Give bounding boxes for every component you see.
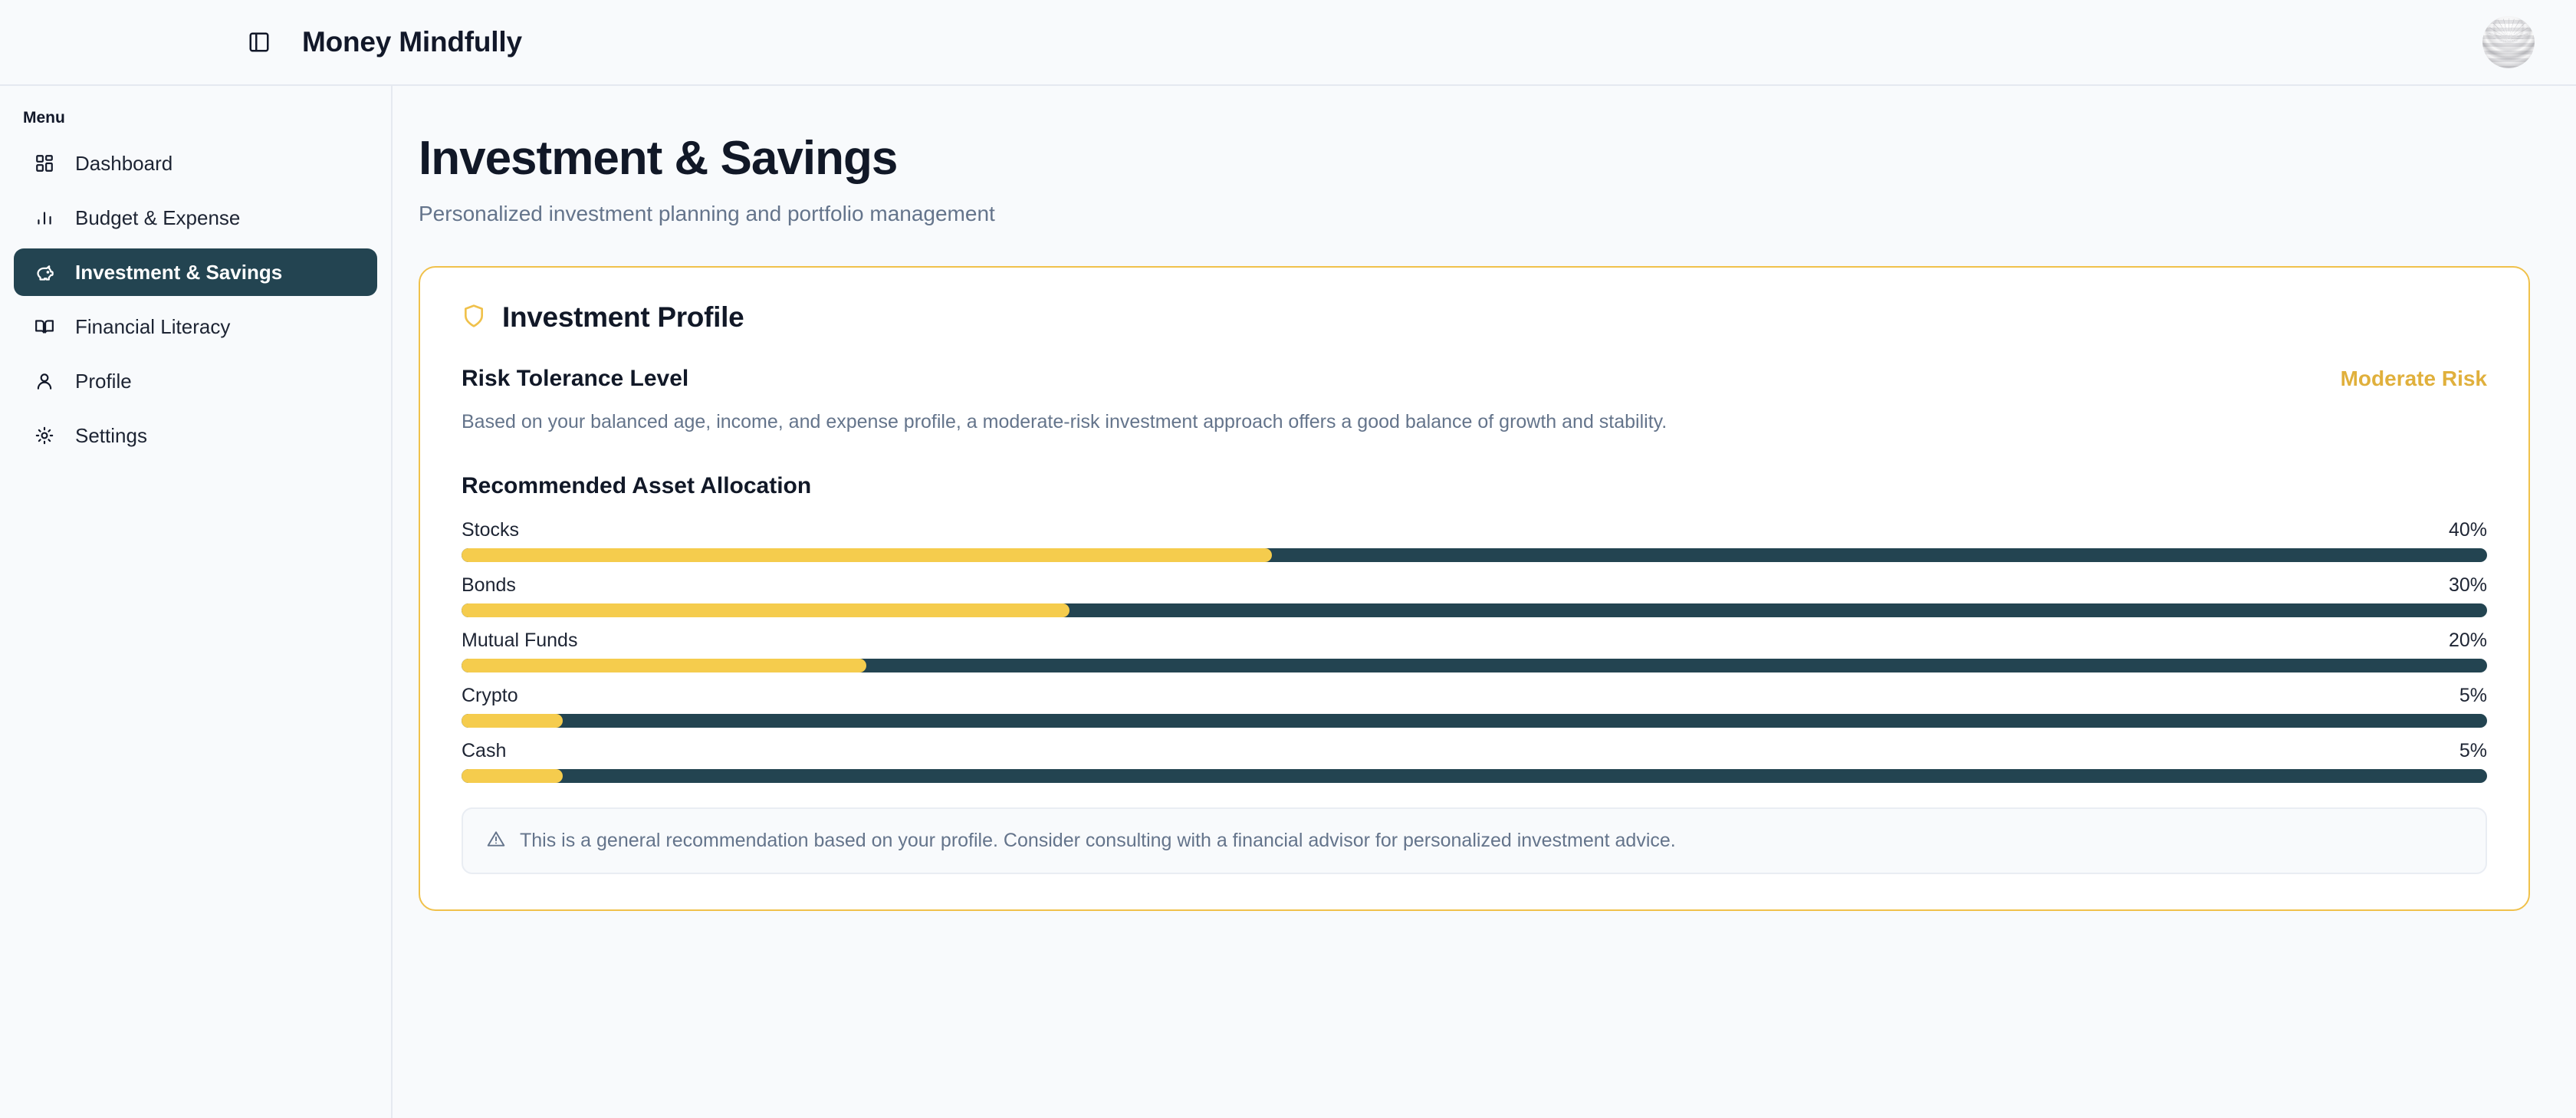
sidebar-item-profile[interactable]: Profile xyxy=(14,357,377,405)
risk-level-badge: Moderate Risk xyxy=(2341,367,2487,391)
sidebar-item-label: Investment & Savings xyxy=(75,261,282,284)
risk-tolerance-row: Risk Tolerance Level Moderate Risk xyxy=(462,366,2487,392)
allocation-value: 30% xyxy=(2449,574,2487,597)
investment-profile-card: Investment Profile Risk Tolerance Level … xyxy=(419,266,2530,911)
sidebar-item-investment-savings[interactable]: Investment & Savings xyxy=(14,248,377,296)
allocation-label: Cash xyxy=(462,740,506,762)
app-title: Money Mindfully xyxy=(302,26,522,58)
allocation-value: 20% xyxy=(2449,630,2487,652)
allocation-value: 5% xyxy=(2459,685,2487,707)
sidebar-nav: Dashboard Budget & Expense xyxy=(0,140,391,459)
gear-icon xyxy=(32,423,57,448)
allocation-progress-fill xyxy=(462,714,563,728)
risk-tolerance-heading: Risk Tolerance Level xyxy=(462,366,688,392)
allocation-label: Mutual Funds xyxy=(462,630,577,652)
sidebar-item-settings[interactable]: Settings xyxy=(14,412,377,459)
allocation-row-cash: Cash 5% xyxy=(462,740,2487,783)
allocation-progress-track[interactable] xyxy=(462,659,2487,672)
allocation-value: 5% xyxy=(2459,740,2487,762)
user-icon xyxy=(32,369,57,393)
allocation-progress-fill xyxy=(462,603,1069,617)
page-title: Investment & Savings xyxy=(419,132,2530,185)
sidebar-item-financial-literacy[interactable]: Financial Literacy xyxy=(14,303,377,350)
allocation-label: Stocks xyxy=(462,519,519,541)
sidebar: Menu Dashboard xyxy=(0,86,393,1118)
top-bar: Money Mindfully xyxy=(0,0,2576,86)
sidebar-item-budget-expense[interactable]: Budget & Expense xyxy=(14,194,377,242)
allocation-progress-track[interactable] xyxy=(462,769,2487,783)
book-open-icon xyxy=(32,314,57,339)
allocation-progress-track[interactable] xyxy=(462,603,2487,617)
risk-tolerance-description: Based on your balanced age, income, and … xyxy=(462,411,2487,433)
page-subtitle: Personalized investment planning and por… xyxy=(419,202,2530,226)
allocation-row-mutual-funds: Mutual Funds 20% xyxy=(462,630,2487,672)
piggy-bank-icon xyxy=(32,260,57,284)
avatar-image xyxy=(2482,16,2535,68)
allocation-progress-track[interactable] xyxy=(462,548,2487,562)
disclaimer-text: This is a general recommendation based o… xyxy=(520,830,1676,852)
asset-allocation-chart: Stocks 40% Bonds 30% xyxy=(462,519,2487,783)
grid-icon xyxy=(32,151,57,176)
card-header: Investment Profile xyxy=(462,301,2487,334)
sidebar-item-label: Budget & Expense xyxy=(75,206,240,230)
sidebar-menu-label: Menu xyxy=(0,109,391,140)
main-content: Investment & Savings Personalized invest… xyxy=(393,86,2576,1118)
sidebar-item-label: Dashboard xyxy=(75,152,172,176)
disclaimer-box: This is a general recommendation based o… xyxy=(462,807,2487,874)
allocation-progress-fill xyxy=(462,548,1272,562)
sidebar-item-dashboard[interactable]: Dashboard xyxy=(14,140,377,187)
allocation-row-stocks: Stocks 40% xyxy=(462,519,2487,562)
sidebar-toggle-icon[interactable] xyxy=(242,25,276,59)
sidebar-item-label: Financial Literacy xyxy=(75,315,230,339)
allocation-value: 40% xyxy=(2449,519,2487,541)
bar-chart-icon xyxy=(32,206,57,230)
allocation-label: Bonds xyxy=(462,574,516,597)
shield-icon xyxy=(462,304,486,332)
allocation-row-bonds: Bonds 30% xyxy=(462,574,2487,617)
allocation-row-crypto: Crypto 5% xyxy=(462,685,2487,728)
app-shell: Menu Dashboard xyxy=(0,86,2576,1118)
allocation-progress-fill xyxy=(462,769,563,783)
allocation-label: Crypto xyxy=(462,685,518,707)
allocation-progress-fill xyxy=(462,659,866,672)
sidebar-item-label: Profile xyxy=(75,370,132,393)
allocation-progress-track[interactable] xyxy=(462,714,2487,728)
allocation-heading: Recommended Asset Allocation xyxy=(462,473,2487,499)
sidebar-item-label: Settings xyxy=(75,424,147,448)
warning-triangle-icon xyxy=(486,829,506,853)
card-title: Investment Profile xyxy=(502,301,744,334)
avatar[interactable] xyxy=(2482,16,2535,68)
